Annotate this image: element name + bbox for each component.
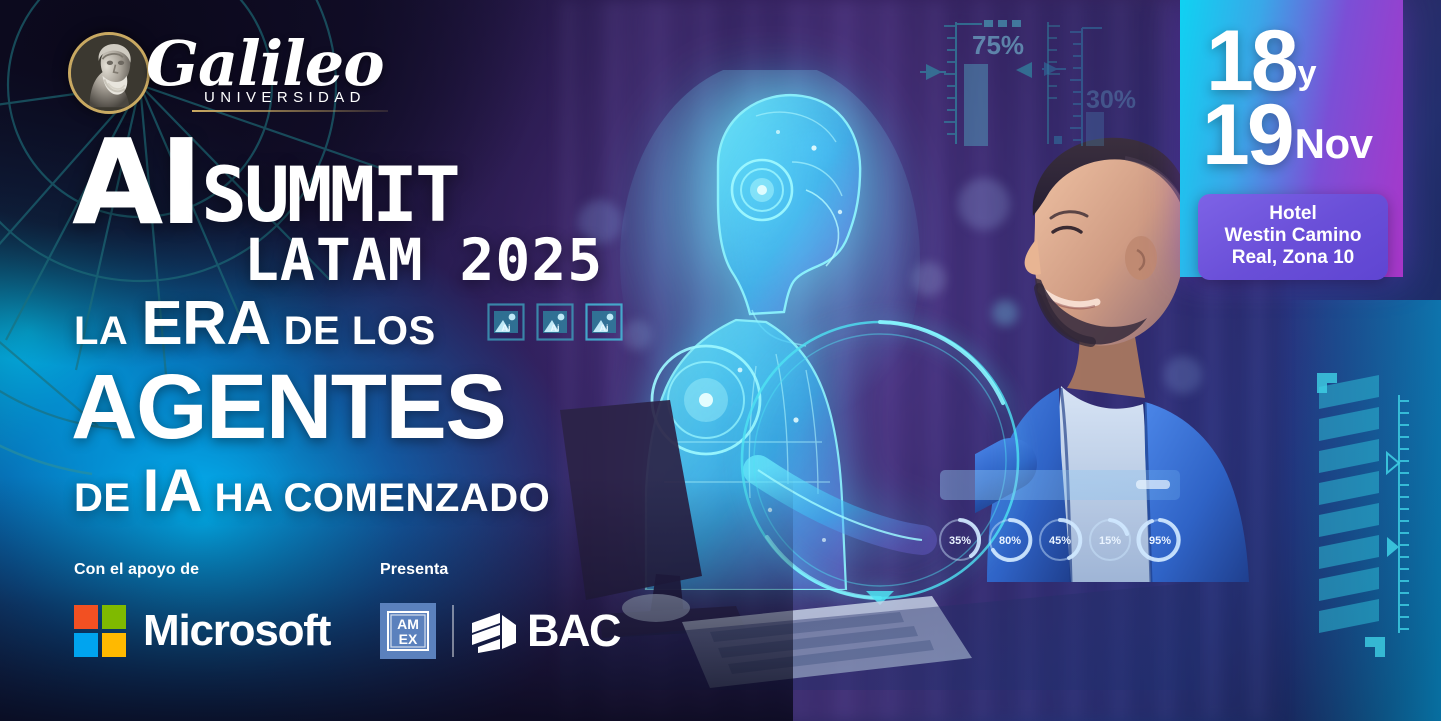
galileo-wordmark: Galileo UNIVERSIDAD (146, 34, 388, 113)
hud-panel (940, 470, 1180, 500)
ring-gauge-label: 15% (1099, 535, 1121, 547)
university-name: Galileo (146, 34, 388, 94)
event-tagline: LA ERA DE LOS AGENTES DE IA HA COMENZADO (74, 293, 550, 521)
date-day-1: 18 (1206, 26, 1296, 97)
hud-bar-gauge-30: 30% (1042, 14, 1192, 154)
tagline-de-los: DE LOS (284, 311, 436, 351)
title-summit: SUMMIT (201, 162, 458, 227)
venue-badge: Hotel Westin Camino Real, Zona 10 (1198, 194, 1388, 280)
date-day-2: 19 (1202, 100, 1292, 171)
title-latam-year: LATAM 2025 (244, 226, 603, 294)
ai-icon-label: Ai (600, 323, 609, 333)
date-conjunction: y (1298, 56, 1317, 90)
tagline-ia: IA (143, 461, 203, 521)
bar-gauge-label: 75% (972, 30, 1024, 60)
bac-mark-icon (470, 609, 518, 653)
ring-gauge-label: 95% (1149, 535, 1171, 547)
date-month: Nov (1295, 123, 1373, 165)
ring-gauge-label: 80% (999, 535, 1021, 547)
microsoft-square-blue (74, 633, 98, 657)
venue-line-1: Hotel (1206, 203, 1380, 225)
galileo-bust-icon (68, 32, 150, 114)
tagline-ha-comenzado: HA COMENZADO (215, 478, 551, 518)
logo-divider (192, 110, 388, 112)
galileo-university-logo: Galileo UNIVERSIDAD (68, 32, 388, 114)
event-banner: 35% 80% 45% 15% 95% (0, 0, 1441, 721)
right-edge-pattern (1301, 345, 1441, 721)
event-date-panel: 18 y 19 Nov Hotel Westin Camino Real, Zo… (1180, 0, 1403, 277)
microsoft-squares-icon (74, 605, 126, 657)
sponsors-section: Con el apoyo de Microsoft Presenta (0, 553, 620, 683)
microsoft-wordmark: Microsoft (143, 606, 330, 656)
bac-wordmark: BAC (527, 605, 620, 657)
hud-ring-gauges: 35% 80% 45% 15% 95% (935, 505, 1185, 575)
title-ai: AI (72, 133, 199, 232)
ring-gauge-label: 45% (1049, 535, 1071, 547)
venue-line-2: Westin Camino (1206, 225, 1380, 247)
support-label: Con el apoyo de (74, 561, 330, 579)
ai-image-icon: Ai (585, 303, 623, 341)
tagline-era: ERA (141, 293, 270, 355)
microsoft-logo: Microsoft (74, 605, 330, 657)
microsoft-square-red (74, 605, 98, 629)
venue-line-3: Real, Zona 10 (1206, 247, 1380, 269)
amex-line-1: AM (397, 616, 419, 632)
bac-logo: BAC (470, 605, 620, 657)
event-title: AI SUMMIT LATAM 2025 (72, 133, 603, 294)
ring-gauge-label: 35% (949, 535, 971, 547)
tagline-la: LA (74, 311, 128, 351)
sponsor-divider (452, 605, 454, 657)
university-subtitle: UNIVERSIDAD (204, 89, 388, 106)
presenting-sponsor-group: Presenta AM EX (380, 561, 620, 659)
tagline-agentes: AGENTES (71, 361, 550, 453)
bar-gauge-label: 30% (1086, 86, 1136, 114)
microsoft-square-green (102, 605, 126, 629)
amex-logo: AM EX (380, 603, 436, 659)
tagline-de: DE (74, 478, 131, 518)
ai-icon-label: Ai (551, 323, 560, 333)
amex-line-2: EX (399, 631, 418, 647)
presents-label: Presenta (380, 561, 620, 579)
microsoft-square-yellow (102, 633, 126, 657)
support-sponsor-group: Con el apoyo de Microsoft (74, 561, 330, 657)
hud-panel-pill (1136, 480, 1170, 489)
